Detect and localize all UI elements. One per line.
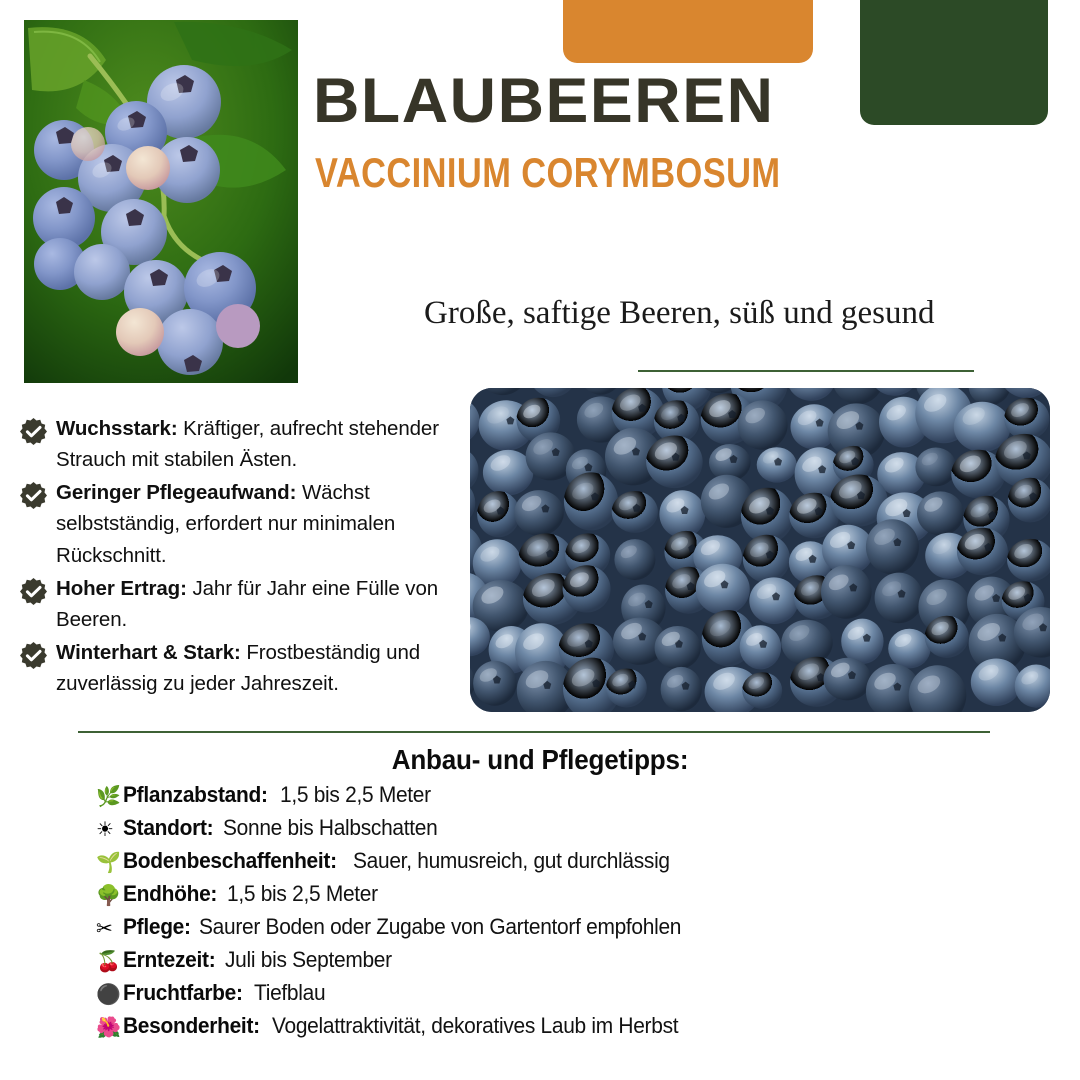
care-tip-value: Vogelattraktivität, dekoratives Laub im … xyxy=(272,1013,678,1039)
care-tip-value: Tiefblau xyxy=(254,980,325,1006)
care-tip-label: Pflege: xyxy=(123,914,191,940)
feature-item: Winterhart & Stark: Frostbeständig und z… xyxy=(20,637,490,699)
feature-text: Geringer Pflegeaufwand: Wächst selbststä… xyxy=(56,477,490,570)
check-badge-icon xyxy=(20,418,47,445)
feature-label: Hoher Ertrag: xyxy=(56,577,187,600)
page-subtitle-latin-name: VACCINIUM CORYMBOSUM xyxy=(315,152,780,194)
feature-label: Geringer Pflegeaufwand: xyxy=(56,481,296,504)
care-tip-label: Besonderheit: xyxy=(123,1013,260,1039)
hibiscus-icon: 🌺 xyxy=(96,1018,123,1038)
check-badge-icon xyxy=(20,578,47,605)
care-tip-row: 🌱Bodenbeschaffenheit:Sauer, humusreich, … xyxy=(0,848,1080,881)
decorative-block-orange xyxy=(563,0,813,63)
care-tip-row: 🌿Pflanzabstand:1,5 bis 2,5 Meter xyxy=(0,782,1080,815)
tagline: Große, saftige Beeren, süß und gesund xyxy=(424,295,1024,333)
care-tips-list: 🌿Pflanzabstand:1,5 bis 2,5 Meter☀Standor… xyxy=(0,782,1080,1046)
feature-text: Winterhart & Stark: Frostbeständig und z… xyxy=(56,637,490,699)
scissors-icon: ✂ xyxy=(96,919,123,939)
care-tip-value: 1,5 bis 2,5 Meter xyxy=(280,782,431,808)
cherries-icon: 🍒 xyxy=(96,952,123,972)
care-tip-row: 🌳Endhöhe:1,5 bis 2,5 Meter xyxy=(0,881,1080,914)
care-tip-value: Saurer Boden oder Zugabe von Gartentorf … xyxy=(199,914,681,940)
check-badge-icon xyxy=(20,642,47,669)
hero-blueberry-bush-photo xyxy=(24,20,298,383)
herb-icon: 🌿 xyxy=(96,787,123,807)
care-tip-row: ✂Pflege:Saurer Boden oder Zugabe von Gar… xyxy=(0,914,1080,947)
tree-icon: 🌳 xyxy=(96,886,123,906)
care-tip-label: Pflanzabstand: xyxy=(123,782,268,808)
feature-item: Hoher Ertrag: Jahr für Jahr eine Fülle v… xyxy=(20,573,490,635)
berries-closeup-photo xyxy=(470,388,1050,712)
care-tip-row: ☀Standort:Sonne bis Halbschatten xyxy=(0,815,1080,848)
tagline-divider xyxy=(638,370,974,372)
care-section-heading: Anbau- und Pflegetipps: xyxy=(38,744,1042,776)
page-title: BLAUBEEREN xyxy=(313,70,775,133)
sun-icon: ☀ xyxy=(96,820,123,840)
decorative-block-green xyxy=(860,0,1048,125)
feature-text: Hoher Ertrag: Jahr für Jahr eine Fülle v… xyxy=(56,573,490,635)
care-tip-label: Fruchtfarbe: xyxy=(123,980,243,1006)
feature-item: Geringer Pflegeaufwand: Wächst selbststä… xyxy=(20,477,490,570)
check-badge-icon xyxy=(20,482,47,509)
seedling-icon: 🌱 xyxy=(96,853,123,873)
feature-text: Wuchsstark: Kräftiger, aufrecht stehende… xyxy=(56,413,490,475)
care-tip-label: Standort: xyxy=(123,815,213,841)
care-tip-row: 🌺Besonderheit:Vogelattraktivität, dekora… xyxy=(0,1013,1080,1046)
care-section-divider xyxy=(78,731,990,733)
poster-canvas: BLAUBEEREN VACCINIUM CORYMBOSUM Große, s… xyxy=(0,0,1080,1080)
feature-label: Winterhart & Stark: xyxy=(56,641,241,664)
feature-list: Wuchsstark: Kräftiger, aufrecht stehende… xyxy=(20,413,490,701)
care-tip-label: Endhöhe: xyxy=(123,881,217,907)
care-tip-value: Sauer, humusreich, gut durchlässig xyxy=(353,848,670,874)
care-tip-value: Juli bis September xyxy=(225,947,392,973)
feature-item: Wuchsstark: Kräftiger, aufrecht stehende… xyxy=(20,413,490,475)
care-tip-row: ⚫Fruchtfarbe:Tiefblau xyxy=(0,980,1080,1013)
care-tip-row: 🍒Erntezeit:Juli bis September xyxy=(0,947,1080,980)
care-tip-value: Sonne bis Halbschatten xyxy=(223,815,437,841)
black-circle-icon: ⚫ xyxy=(96,985,123,1005)
care-tip-value: 1,5 bis 2,5 Meter xyxy=(227,881,378,907)
care-tip-label: Erntezeit: xyxy=(123,947,215,973)
care-tip-label: Bodenbeschaffenheit: xyxy=(123,848,337,874)
feature-label: Wuchsstark: xyxy=(56,417,178,440)
